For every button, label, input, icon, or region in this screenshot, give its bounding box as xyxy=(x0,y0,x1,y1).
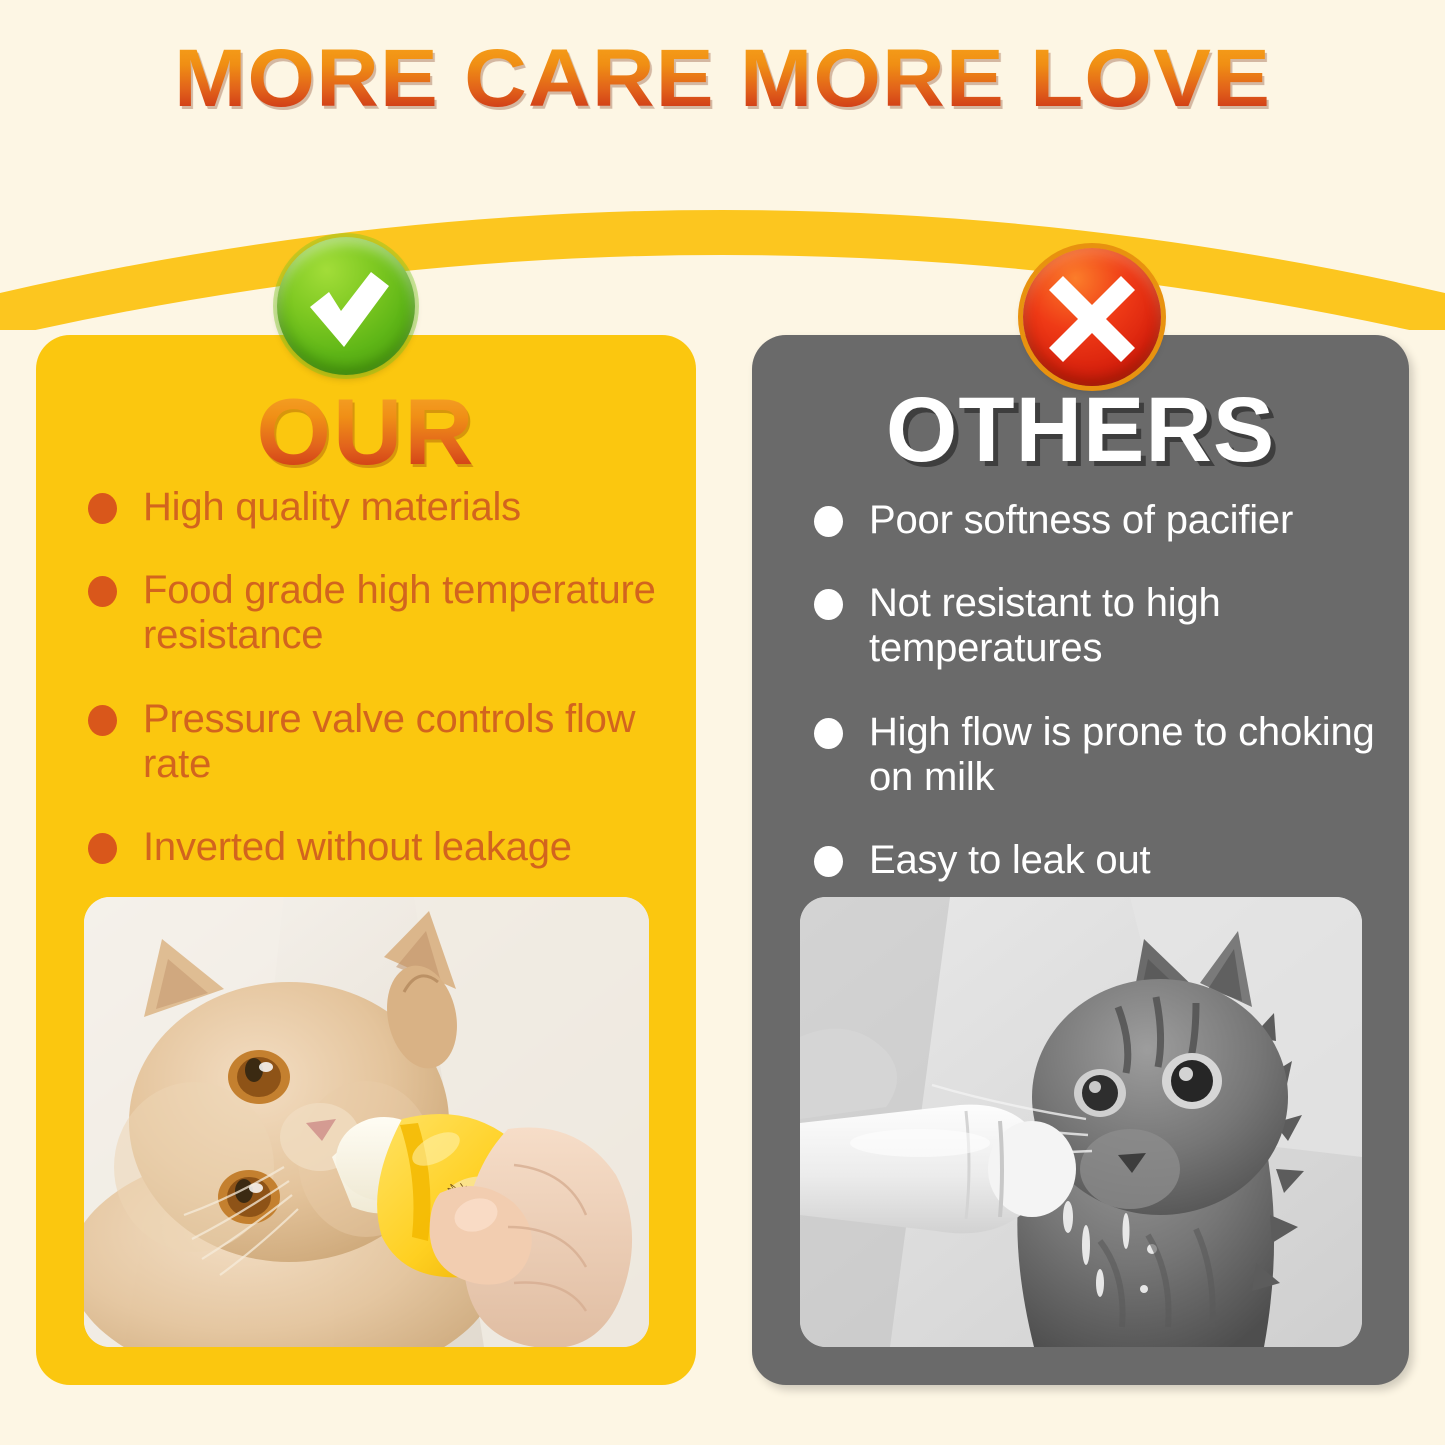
list-item-label: Inverted without leakage xyxy=(143,825,572,870)
card-our-bullet-list: High quality materials Food grade high t… xyxy=(36,485,696,908)
list-item: Food grade high temperature resistance xyxy=(88,568,678,658)
cross-mark-glyph xyxy=(1049,276,1135,362)
list-item-label: Easy to leak out xyxy=(869,838,1150,883)
list-item: Not resistant to high temperatures xyxy=(814,581,1397,671)
list-item-label: High flow is prone to choking on milk xyxy=(869,710,1397,800)
bullet-dot-icon xyxy=(814,506,843,537)
bullet-dot-icon xyxy=(88,705,117,736)
list-item: Inverted without leakage xyxy=(88,825,678,870)
photo-wet-kitten-white-bottle xyxy=(800,897,1362,1347)
card-others-title: OTHERS xyxy=(752,384,1409,476)
list-item-label: Food grade high temperature resistance xyxy=(143,568,678,658)
bullet-dot-icon xyxy=(814,846,843,877)
check-circle-icon xyxy=(277,237,415,375)
list-item: Pressure valve controls flow rate xyxy=(88,697,678,787)
photo-ginger-cat-bottle-feeding: M L S O W xyxy=(84,897,649,1347)
card-our-title: OUR xyxy=(29,385,702,479)
list-item-label: Not resistant to high temperatures xyxy=(869,581,1397,671)
list-item-label: High quality materials xyxy=(143,485,521,530)
bullet-dot-icon xyxy=(814,589,843,620)
page-title: MORE CARE MORE LOVE xyxy=(0,38,1445,120)
list-item: Poor softness of pacifier xyxy=(814,498,1397,543)
list-item-label: Pressure valve controls flow rate xyxy=(143,697,678,787)
cross-circle-icon xyxy=(1023,248,1161,386)
check-mark-glyph xyxy=(310,272,389,347)
bullet-dot-icon xyxy=(88,493,117,524)
list-item: Easy to leak out xyxy=(814,838,1397,883)
arc-shape xyxy=(0,210,1445,330)
list-item: High quality materials xyxy=(88,485,678,530)
bullet-dot-icon xyxy=(88,833,117,864)
list-item: High flow is prone to choking on milk xyxy=(814,710,1397,800)
comparison-infographic: MORE CARE MORE LOVE OUR High quality mat… xyxy=(0,0,1445,1445)
bullet-dot-icon xyxy=(814,718,843,749)
bullet-dot-icon xyxy=(88,576,117,607)
card-others-bullet-list: Poor softness of pacifier Not resistant … xyxy=(752,498,1409,921)
list-item-label: Poor softness of pacifier xyxy=(869,498,1293,543)
